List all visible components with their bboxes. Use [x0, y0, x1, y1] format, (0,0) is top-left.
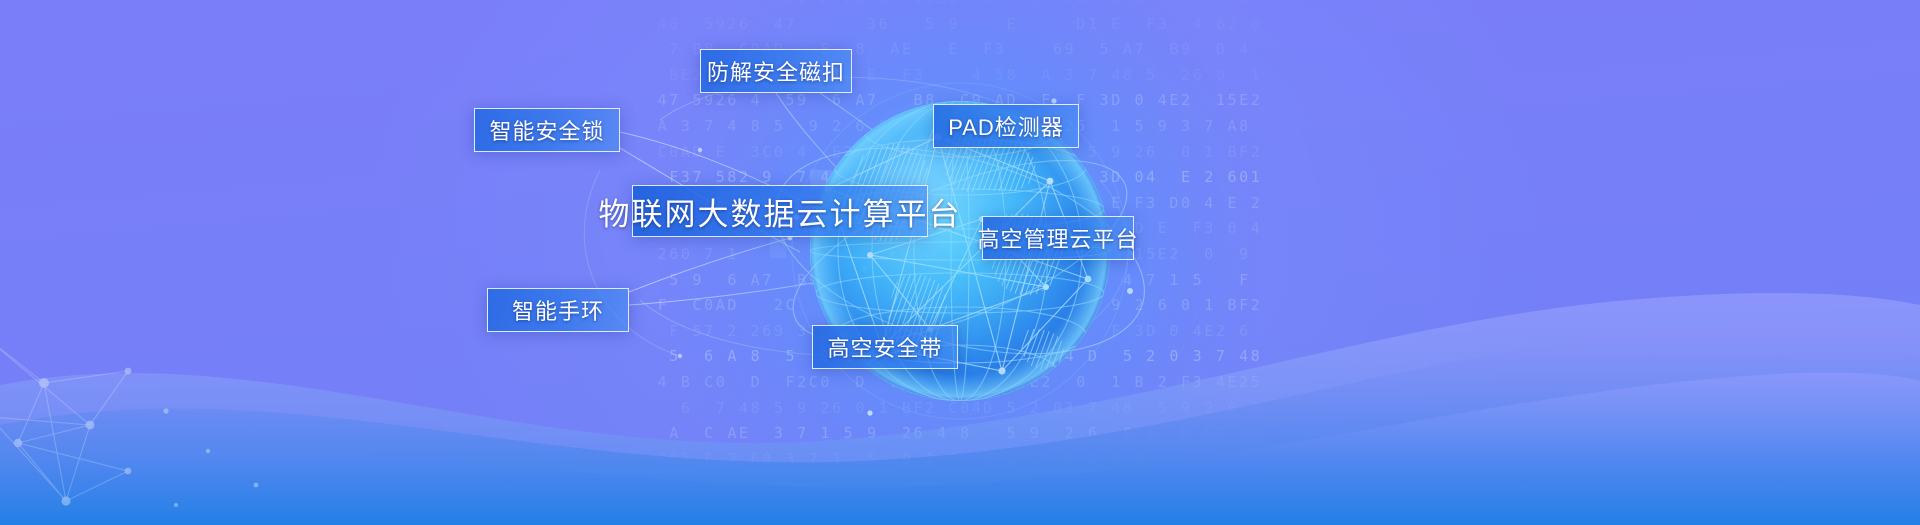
- hex-data-matrix: AE C0 D1 E 2C 3 15E2 0 A7 9B 5 A E C9AD …: [340, 0, 1580, 525]
- center-label-platform[interactable]: 物联网大数据云计算平台: [632, 185, 928, 237]
- node-label-lock[interactable]: 智能安全锁: [474, 108, 620, 152]
- node-label-smart-band[interactable]: 智能手环: [487, 288, 629, 332]
- connector-network: [0, 0, 1920, 525]
- iot-platform-banner: AE C0 D1 E 2C 3 15E2 0 A7 9B 5 A E C9AD …: [0, 0, 1920, 525]
- node-label-pad-detector[interactable]: PAD检测器: [933, 104, 1079, 148]
- wave-decoration: [0, 265, 1920, 525]
- node-label-cloud-platform[interactable]: 高空管理云平台: [982, 216, 1134, 260]
- node-label-buckle[interactable]: 防解安全磁扣: [700, 49, 852, 93]
- hex-block-cells: [340, 0, 1580, 525]
- node-label-safety-belt[interactable]: 高空安全带: [812, 325, 958, 369]
- constellation-icon: [0, 325, 300, 525]
